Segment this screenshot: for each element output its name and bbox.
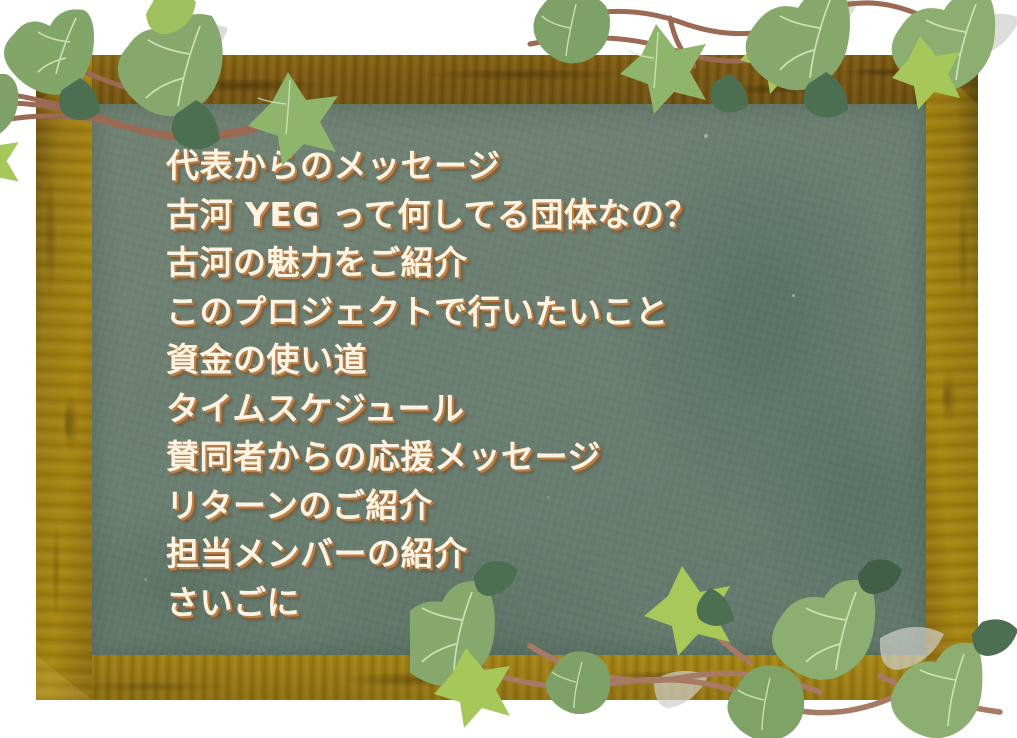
toc-item[interactable]: タイムスケジュール (166, 385, 886, 434)
chalk-speck (704, 134, 708, 138)
toc-item[interactable]: 古河 YEG って何してる団体なの？ (166, 191, 886, 240)
frame-corner-bottom-left (36, 655, 92, 700)
ivy-leaf (0, 72, 18, 140)
slide-canvas: 代表からのメッセージ 古河 YEG って何してる団体なの？ 古河の魅力をご紹介 … (0, 0, 1017, 737)
ivy-shadow-group (796, 0, 1017, 56)
frame-corner-top-left (36, 55, 92, 104)
frame-rail-top (36, 55, 978, 104)
toc-item[interactable]: リターンのご紹介 (166, 482, 886, 531)
ivy-leaf (0, 127, 19, 192)
table-of-contents-list: 代表からのメッセージ 古河 YEG って何してる団体なの？ 古河の魅力をご紹介 … (166, 142, 886, 627)
toc-item[interactable]: 賛同者からの応援メッセージ (166, 433, 886, 482)
toc-item[interactable]: 資金の使い道 (166, 336, 886, 385)
toc-item[interactable]: 古河の魅力をご紹介 (166, 239, 886, 288)
ivy-leaf-veins (542, 4, 576, 56)
frame-rail-bottom (36, 655, 978, 700)
ivy-leaf (146, 0, 196, 34)
frame-corner-bottom-right (926, 655, 978, 700)
ivy-leaf (533, 0, 610, 63)
ivy-leaf (972, 619, 1017, 656)
chalk-speck (144, 578, 147, 581)
frame-rail-left (36, 55, 92, 700)
frame-corner-top-right (926, 55, 978, 104)
toc-item[interactable]: 担当メンバーの紹介 (166, 530, 886, 579)
toc-item[interactable]: 代表からのメッセージ (166, 142, 886, 191)
toc-item[interactable]: このプロジェクトで行いたいこと (166, 288, 886, 337)
toc-item[interactable]: さいごに (166, 579, 886, 628)
frame-rail-right (926, 55, 978, 700)
